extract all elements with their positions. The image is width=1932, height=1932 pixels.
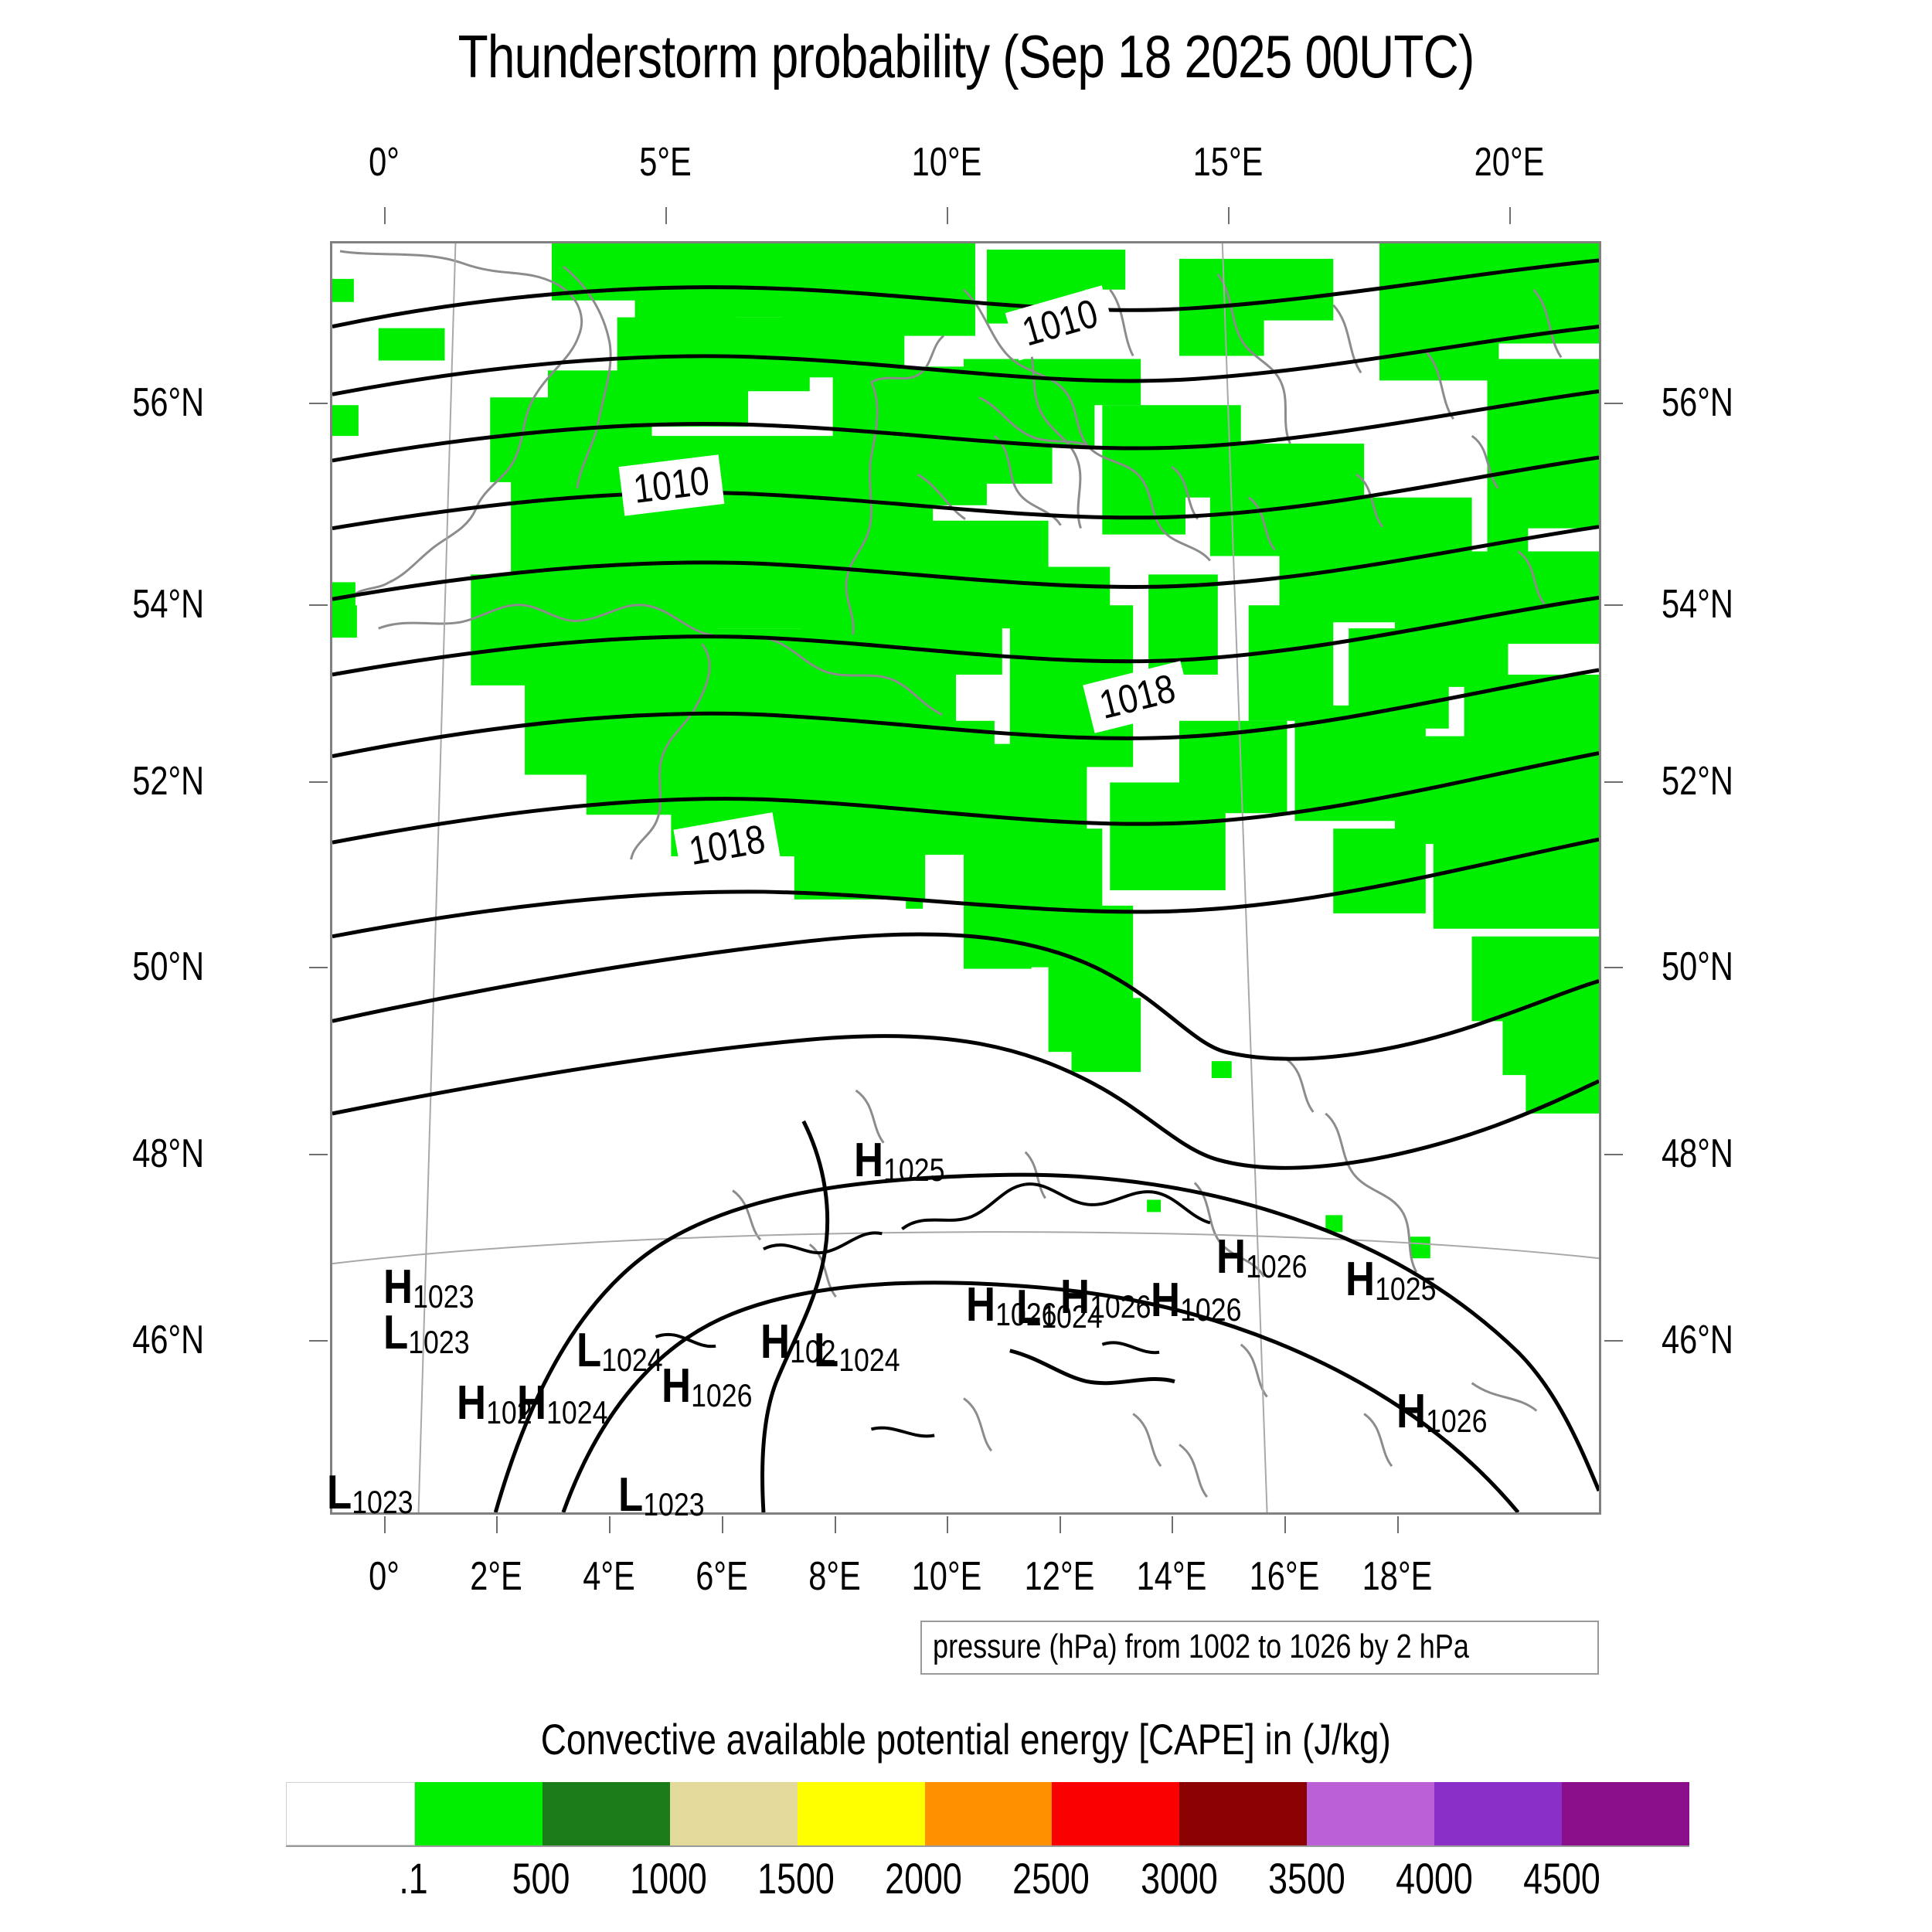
pressure-marker-h: H1024 <box>517 1379 607 1429</box>
map-plot-area: 1010 1010 1018 1018 H1025 H1023 L1023 H1… <box>330 241 1601 1515</box>
lon-tick-bottom <box>947 1516 948 1533</box>
colorbar-swatch[interactable] <box>925 1782 1053 1845</box>
lon-tick-top <box>947 207 948 224</box>
lon-tick-top <box>1509 207 1511 224</box>
colorbar-swatch[interactable] <box>1562 1782 1689 1845</box>
lon-tick-top <box>384 207 386 224</box>
lat-tick-left <box>309 403 328 404</box>
colorbar-tick-label: 4500 <box>1523 1853 1600 1903</box>
colorbar-tick-label: 1500 <box>757 1853 835 1903</box>
colorbar-tick-label: 3000 <box>1141 1853 1218 1903</box>
colorbar-tick-label: 3500 <box>1268 1853 1345 1903</box>
lon-tick-bottom <box>496 1516 498 1533</box>
lon-label-bottom: 12°E <box>1025 1553 1095 1600</box>
colorbar-labels: .1 500 1000 1500 2000 2500 3000 3500 400… <box>286 1853 1689 1907</box>
lon-tick-bottom <box>384 1516 386 1533</box>
lat-tick-right <box>1604 1154 1623 1155</box>
pressure-marker-l: L1023 <box>618 1471 705 1521</box>
lon-label-bottom: 4°E <box>583 1553 635 1600</box>
colorbar-tick-label: .1 <box>399 1853 427 1903</box>
pressure-marker-h: H1026 <box>1151 1277 1241 1326</box>
colorbar-swatch[interactable] <box>1052 1782 1179 1845</box>
lon-label-bottom: 6°E <box>696 1553 748 1600</box>
lat-tick-right <box>1604 781 1623 783</box>
pressure-marker-l: L1024 <box>1016 1284 1103 1333</box>
lat-tick-left <box>309 967 328 968</box>
lat-tick-right <box>1604 967 1623 968</box>
lat-tick-left <box>309 781 328 783</box>
lon-label-top: 15°E <box>1193 139 1264 185</box>
colorbar-swatch[interactable] <box>415 1782 543 1845</box>
pressure-marker-h: H1026 <box>1216 1233 1307 1283</box>
lat-label-left: 50°N <box>132 944 204 990</box>
lon-tick-bottom <box>835 1516 836 1533</box>
lat-label-left: 46°N <box>132 1317 204 1363</box>
lon-tick-bottom <box>1397 1516 1399 1533</box>
lon-tick-bottom <box>609 1516 611 1533</box>
colorbar-tick-label: 1000 <box>630 1853 707 1903</box>
pressure-marker-l: L1024 <box>814 1327 900 1376</box>
lon-label-bottom: 2°E <box>470 1553 522 1600</box>
lat-label-right: 52°N <box>1662 758 1733 804</box>
lat-tick-right <box>1604 604 1623 606</box>
colorbar-swatch[interactable] <box>1434 1782 1562 1845</box>
lon-label-bottom: 10°E <box>912 1553 982 1600</box>
lat-tick-left <box>309 604 328 606</box>
colorbar-swatch[interactable] <box>543 1782 670 1845</box>
colorbar-tick-label: 2500 <box>1013 1853 1090 1903</box>
lon-label-bottom: 0° <box>369 1553 400 1600</box>
lat-tick-left <box>309 1340 328 1342</box>
lon-label-bottom: 16°E <box>1250 1553 1320 1600</box>
lon-tick-top <box>665 207 667 224</box>
lon-label-top: 0° <box>369 139 400 185</box>
pressure-marker-l: L1024 <box>577 1327 663 1376</box>
lat-label-left: 48°N <box>132 1131 204 1177</box>
lon-label-top: 10°E <box>912 139 982 185</box>
colorbar-tick-label: 500 <box>512 1853 570 1903</box>
pressure-marker-h: H1026 <box>1396 1388 1487 1437</box>
lat-label-left: 54°N <box>132 581 204 628</box>
colorbar-swatch[interactable] <box>286 1782 415 1845</box>
cape-shading-layer <box>332 243 1599 1258</box>
pressure-marker-h: H1026 <box>662 1362 752 1412</box>
pressure-marker-h: H1025 <box>1345 1256 1436 1305</box>
colorbar <box>286 1782 1689 1847</box>
lon-tick-top <box>1228 207 1230 224</box>
pressure-marker-l: L1023 <box>383 1309 470 1359</box>
colorbar-title: Convective available potential energy [C… <box>0 1714 1932 1764</box>
lat-label-right: 48°N <box>1662 1131 1733 1177</box>
colorbar-swatch[interactable] <box>1307 1782 1434 1845</box>
lat-tick-right <box>1604 403 1623 404</box>
colorbar-tick-label: 4000 <box>1396 1853 1473 1903</box>
lon-label-bottom: 14°E <box>1137 1553 1207 1600</box>
pressure-marker-l: L1023 <box>327 1469 413 1519</box>
lat-label-left: 56°N <box>132 379 204 426</box>
lon-tick-bottom <box>1284 1516 1286 1533</box>
colorbar-swatch[interactable] <box>798 1782 925 1845</box>
lon-tick-bottom <box>1172 1516 1173 1533</box>
lon-label-top: 5°E <box>639 139 692 185</box>
pressure-marker-h: H1025 <box>854 1137 944 1186</box>
lon-tick-bottom <box>1060 1516 1061 1533</box>
lon-tick-bottom <box>722 1516 723 1533</box>
lon-label-top: 20°E <box>1475 139 1545 185</box>
colorbar-swatch[interactable] <box>670 1782 798 1845</box>
lon-label-bottom: 18°E <box>1362 1553 1433 1600</box>
colorbar-swatch[interactable] <box>1179 1782 1307 1845</box>
colorbar-tick-label: 2000 <box>886 1853 963 1903</box>
pressure-contour-note: pressure (hPa) from 1002 to 1026 by 2 hP… <box>920 1621 1599 1675</box>
lat-label-right: 54°N <box>1662 581 1733 628</box>
lat-label-right: 50°N <box>1662 944 1733 990</box>
lat-tick-left <box>309 1154 328 1155</box>
lat-label-right: 56°N <box>1662 379 1733 426</box>
lat-label-right: 46°N <box>1662 1317 1733 1363</box>
lat-label-left: 52°N <box>132 758 204 804</box>
lat-tick-right <box>1604 1340 1623 1342</box>
page-title: Thunderstorm probability (Sep 18 2025 00… <box>174 22 1758 92</box>
lon-label-bottom: 8°E <box>808 1553 861 1600</box>
